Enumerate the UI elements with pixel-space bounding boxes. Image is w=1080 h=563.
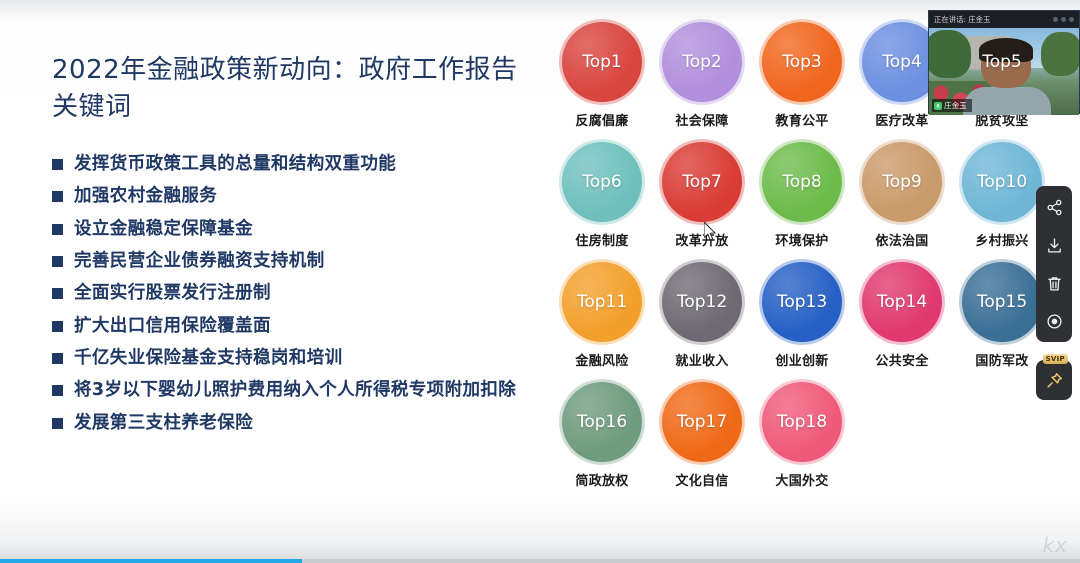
video-pip-header: 正在讲话: 庄金玉	[929, 11, 1079, 28]
microphone-icon	[934, 102, 942, 110]
keyword-cell[interactable]: Top1反腐倡廉	[552, 22, 652, 142]
keyword-rank: Top7	[682, 172, 722, 192]
keyword-rank: Top12	[677, 292, 727, 312]
bullet-item: 发展第三支柱养老保险	[52, 411, 522, 436]
keyword-rank: Top9	[882, 172, 922, 192]
keyword-bubble[interactable]: Top3	[762, 22, 842, 102]
keyword-cell[interactable]: Top3教育公平	[752, 22, 852, 142]
keyword-rank: Top14	[877, 292, 927, 312]
bullet-label: 加强农村金融服务	[74, 184, 217, 209]
keyword-rank: Top13	[777, 292, 827, 312]
bullet-label: 将3岁以下婴幼儿照护费用纳入个人所得税专项附加扣除	[74, 378, 516, 403]
keyword-rank: Top6	[582, 172, 622, 192]
video-pip-menu[interactable]	[1053, 17, 1074, 22]
watermark: kx	[1043, 533, 1068, 557]
keyword-label: 文化自信	[675, 470, 728, 489]
bullet-label: 发挥货币政策工具的总量和结构双重功能	[74, 152, 396, 177]
keyword-bubble[interactable]: Top8	[762, 142, 842, 222]
keyword-rank: Top4	[882, 52, 922, 72]
slide-text-panel: 2022年金融政策新动向：政府工作报告关键词 发挥货币政策工具的总量和结构双重功…	[52, 52, 522, 443]
keyword-cell[interactable]: Top2社会保障	[652, 22, 752, 142]
keyword-bubble[interactable]: Top15	[962, 262, 1042, 342]
bullet-item: 完善民营企业债券融资支持机制	[52, 249, 522, 274]
keyword-bubble[interactable]: Top13	[762, 262, 842, 342]
speaking-now-label: 正在讲话: 庄金玉	[934, 14, 990, 24]
keyword-label: 公共安全	[875, 350, 928, 369]
keyword-rank: Top10	[977, 172, 1027, 192]
keyword-cell[interactable]: Top13创业创新	[752, 262, 852, 382]
keyword-rank: Top8	[782, 172, 822, 192]
bullet-marker-icon	[52, 418, 63, 429]
bullet-label: 发展第三支柱养老保险	[74, 411, 253, 436]
keyword-rank: Top16	[577, 412, 627, 432]
participant-name-badge: 庄金玉	[932, 99, 972, 112]
keyword-bubble[interactable]: Top2	[662, 22, 742, 102]
pin-icon[interactable]: SVIP	[1036, 360, 1072, 400]
keyword-label: 大国外交	[775, 470, 828, 489]
keyword-label: 住房制度	[575, 230, 628, 249]
bullet-marker-icon	[52, 159, 63, 170]
keyword-rank: Top17	[677, 412, 727, 432]
bullet-item: 发挥货币政策工具的总量和结构双重功能	[52, 152, 522, 177]
screen-root: 2022年金融政策新动向：政府工作报告关键词 发挥货币政策工具的总量和结构双重功…	[0, 0, 1080, 563]
svip-badge: SVIP	[1043, 354, 1068, 364]
keyword-bubble[interactable]: Top6	[562, 142, 642, 222]
bullet-list: 发挥货币政策工具的总量和结构双重功能加强农村金融服务设立金融稳定保障基金完善民营…	[52, 152, 522, 436]
bullet-marker-icon	[52, 353, 63, 364]
keyword-cell[interactable]: Top18大国外交	[752, 382, 852, 502]
participant-name: 庄金玉	[944, 100, 967, 110]
playback-progress-track[interactable]	[0, 559, 1080, 563]
bullet-marker-icon	[52, 256, 63, 267]
keyword-bubble[interactable]: Top11	[562, 262, 642, 342]
keyword-rank: Top15	[977, 292, 1027, 312]
bullet-item: 扩大出口信用保险覆盖面	[52, 314, 522, 339]
bullet-label: 千亿失业保险基金支持稳岗和培训	[74, 346, 343, 371]
keyword-bubble[interactable]: Top14	[862, 262, 942, 342]
keyword-bubble[interactable]: Top7	[662, 142, 742, 222]
keyword-cell[interactable]: Top8环境保护	[752, 142, 852, 262]
keyword-label: 金融风险	[575, 350, 628, 369]
keyword-rank: Top3	[782, 52, 822, 72]
keyword-bubble[interactable]: Top1	[562, 22, 642, 102]
bullet-item: 全面实行股票发行注册制	[52, 281, 522, 306]
bullet-item: 千亿失业保险基金支持稳岗和培训	[52, 346, 522, 371]
keyword-label: 医疗改革	[875, 110, 928, 129]
keyword-label: 就业收入	[675, 350, 728, 369]
keyword-rank: Top1	[582, 52, 622, 72]
record-icon[interactable]	[1043, 310, 1065, 332]
side-toolbar	[1036, 186, 1072, 342]
bullet-label: 扩大出口信用保险覆盖面	[74, 314, 271, 339]
bullet-marker-icon	[52, 224, 63, 235]
keyword-rank: Top5	[982, 52, 1022, 72]
bullet-item: 将3岁以下婴幼儿照护费用纳入个人所得税专项附加扣除	[52, 378, 522, 403]
keyword-bubble[interactable]: Top18	[762, 382, 842, 462]
keyword-bubble[interactable]: Top12	[662, 262, 742, 342]
keyword-bubble[interactable]: Top17	[662, 382, 742, 462]
keyword-bubble[interactable]: Top16	[562, 382, 642, 462]
keyword-label: 创业创新	[775, 350, 828, 369]
bullet-label: 全面实行股票发行注册制	[74, 281, 271, 306]
keyword-label: 简政放权	[575, 470, 628, 489]
keyword-bubble[interactable]: Top10	[962, 142, 1042, 222]
keyword-label: 改革开放	[675, 230, 728, 249]
keyword-label: 乡村振兴	[975, 230, 1028, 249]
bullet-label: 设立金融稳定保障基金	[74, 217, 253, 242]
bullet-item: 设立金融稳定保障基金	[52, 217, 522, 242]
keyword-label: 反腐倡廉	[575, 110, 628, 129]
keyword-label: 教育公平	[775, 110, 828, 129]
keyword-cell[interactable]: Top17文化自信	[652, 382, 752, 502]
share-icon[interactable]	[1043, 196, 1065, 218]
keyword-cell[interactable]: Top6住房制度	[552, 142, 652, 262]
keyword-cell[interactable]: Top16简政放权	[552, 382, 652, 502]
bullet-item: 加强农村金融服务	[52, 184, 522, 209]
bullet-marker-icon	[52, 321, 63, 332]
keyword-label: 社会保障	[675, 110, 728, 129]
keyword-rank: Top18	[777, 412, 827, 432]
keyword-label: 国防军改	[975, 350, 1028, 369]
bullet-marker-icon	[52, 385, 63, 396]
keyword-cell[interactable]: Top9依法治国	[852, 142, 952, 262]
keyword-label: 环境保护	[775, 230, 828, 249]
keyword-cell[interactable]: Top7改革开放	[652, 142, 752, 262]
keyword-cell[interactable]: Top12就业收入	[652, 262, 752, 382]
keyword-bubble[interactable]: Top9	[862, 142, 942, 222]
video-tree-left	[929, 30, 971, 78]
video-person-body	[963, 87, 1051, 115]
keyword-rank: Top11	[577, 292, 627, 312]
bullet-marker-icon	[52, 288, 63, 299]
video-tree-right	[1041, 32, 1079, 76]
keyword-label: 依法治国	[875, 230, 928, 249]
download-icon[interactable]	[1043, 234, 1065, 256]
delete-icon[interactable]	[1043, 272, 1065, 294]
playback-progress-fill	[0, 559, 302, 563]
bullet-marker-icon	[52, 191, 63, 202]
keyword-cell[interactable]: Top14公共安全	[852, 262, 952, 382]
page-title: 2022年金融政策新动向：政府工作报告关键词	[52, 52, 522, 126]
keyword-rank: Top2	[682, 52, 722, 72]
keyword-cell[interactable]: Top11金融风险	[552, 262, 652, 382]
bullet-label: 完善民营企业债券融资支持机制	[74, 249, 325, 274]
